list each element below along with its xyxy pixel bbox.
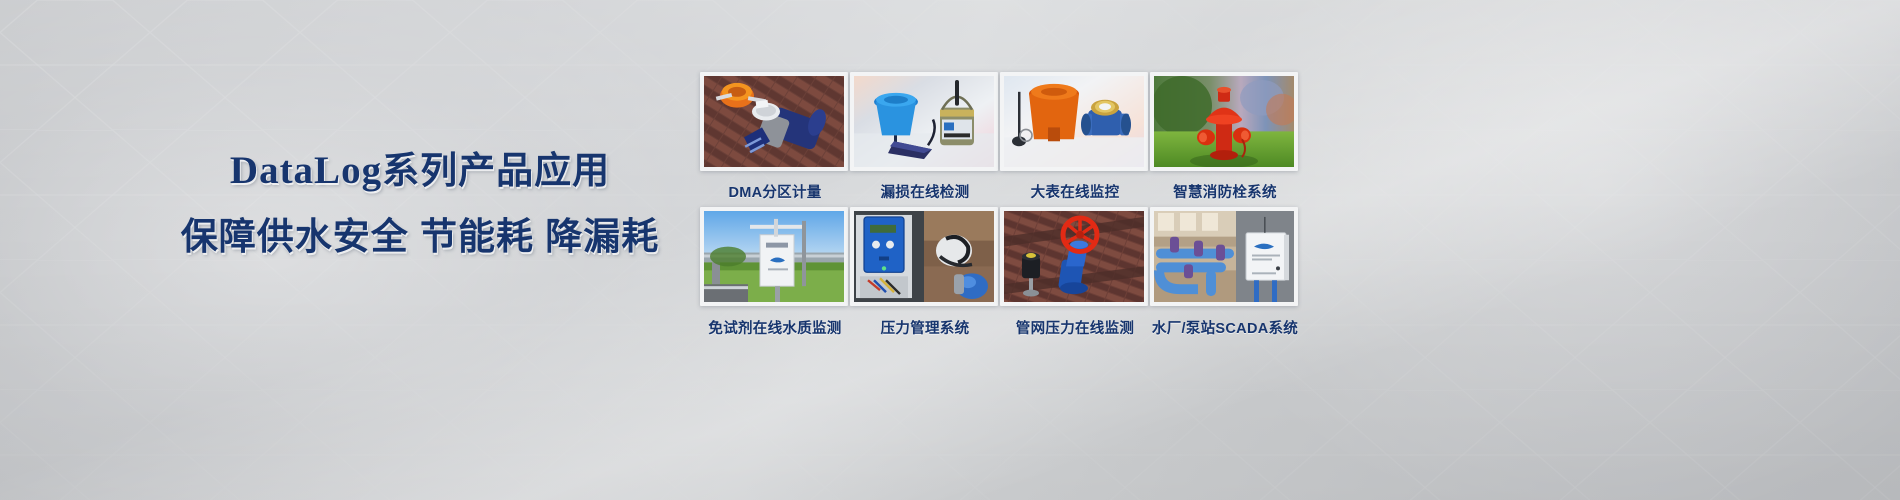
product-caption: 大表在线监控 [1000, 181, 1150, 202]
product-cell-smart-hydrant-system[interactable]: 智慧消防栓系统 [1150, 72, 1300, 202]
smart-fire-hydrant-photo [1154, 76, 1294, 167]
headline-line-2: 保障供水安全 节能耗 降漏耗 [0, 217, 840, 256]
headline-block: DataLog系列产品应用 保障供水安全 节能耗 降漏耗 [0, 150, 840, 257]
product-caption: 智慧消防栓系统 [1150, 181, 1300, 202]
large-meter-monitoring-photo [1004, 76, 1144, 167]
product-cell-scada-system[interactable]: 水厂/泵站SCADA系统 [1150, 207, 1300, 338]
product-grid: DMA分区计量 [700, 72, 1860, 338]
product-application-banner: DataLog系列产品应用 保障供水安全 节能耗 降漏耗 [0, 0, 1900, 500]
headline-latin-text: DataLog [230, 149, 382, 192]
product-card[interactable] [850, 72, 998, 171]
product-card[interactable] [1000, 72, 1148, 171]
product-cell-leak-online-detection[interactable]: 漏损在线检测 [850, 72, 1000, 202]
product-card[interactable] [850, 207, 998, 306]
pipe-network-pressure-photo [1004, 211, 1144, 302]
product-card[interactable] [1150, 72, 1298, 171]
product-caption: 管网压力在线监测 [1000, 317, 1150, 338]
headline-cjk-text: 系列产品应用 [382, 150, 610, 191]
product-card[interactable] [1000, 207, 1148, 306]
product-cell-pipe-pressure-monitoring[interactable]: 管网压力在线监测 [1000, 207, 1150, 338]
product-caption: 免试剂在线水质监测 [700, 317, 850, 338]
leakage-online-detection-photo [854, 76, 994, 167]
product-caption: 漏损在线检测 [850, 181, 1000, 202]
product-caption: 压力管理系统 [850, 317, 1000, 338]
pressure-management-cabinet-photo [854, 211, 994, 302]
headline-line-1: DataLog系列产品应用 [0, 150, 840, 191]
product-caption: 水厂/泵站SCADA系统 [1150, 317, 1300, 338]
product-cell-pressure-management[interactable]: 压力管理系统 [850, 207, 1000, 338]
product-card[interactable] [1150, 207, 1298, 306]
product-cell-large-meter-monitoring[interactable]: 大表在线监控 [1000, 72, 1150, 202]
waterworks-scada-photo [1154, 211, 1294, 302]
